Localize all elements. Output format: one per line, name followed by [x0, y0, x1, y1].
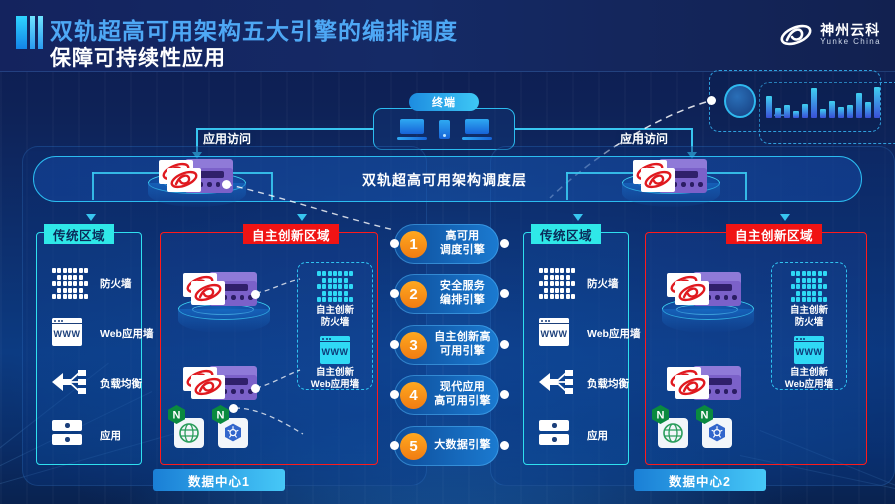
logo-name-en: Yunke China: [820, 38, 881, 46]
load-balancer-wrap: [52, 368, 86, 396]
engine-connector-dot: [500, 340, 509, 349]
innovation-subpanel-dc1: 自主创新防火墙 WWW 自主创新Web应用墙: [297, 262, 373, 390]
service-row-Web应用墙: WWWWeb应用墙: [52, 318, 153, 348]
service-label: 应用: [100, 428, 121, 443]
bar: [793, 111, 799, 118]
zone-label-innovation-dc2: 自主创新区域: [726, 224, 822, 244]
datacenter-1-tag: 数据中心1: [153, 469, 285, 491]
application-server-icon: [52, 420, 82, 446]
firewall-icon: [791, 271, 827, 302]
kubernetes-icon: [222, 422, 244, 444]
engine-5[interactable]: 5大数据引擎: [394, 426, 499, 466]
k8s-connector-dot: [229, 404, 238, 413]
service-label: 防火墙: [100, 276, 132, 291]
laptop-icon: [462, 119, 492, 140]
service-row-应用: 应用: [539, 420, 608, 450]
engine-number: 5: [400, 433, 427, 460]
band-bracket-left-v1: [92, 172, 94, 200]
application-server-icon-wrap: [539, 420, 575, 450]
engine-4[interactable]: 4现代应用高可用引擎: [394, 375, 499, 415]
engine-connector-dot: [500, 390, 509, 399]
bar: [856, 93, 862, 118]
access-label-right: 应用访问: [620, 130, 668, 147]
dashboard-connector-dot: [707, 96, 716, 105]
header-accent-bars: [16, 16, 43, 49]
bar: [811, 88, 817, 118]
zone-arrow-traditional-dc1: [86, 214, 96, 221]
nginx-icon: N: [652, 405, 669, 424]
page-title-main: 双轨超高可用架构: [50, 18, 242, 44]
phone-icon: [439, 120, 450, 139]
bar-chart-icon: [766, 84, 880, 118]
engine-label: 大数据引擎: [427, 439, 498, 453]
band-bracket-right-v2: [745, 172, 747, 200]
web-application-firewall-icon: WWW: [539, 318, 569, 346]
engine-connector-dot: [500, 289, 509, 298]
bar: [802, 104, 808, 118]
bar: [766, 96, 772, 118]
zone-label-traditional-dc1: 传统区域: [44, 224, 114, 244]
svg-text:N: N: [657, 410, 665, 422]
engine-connector-dot: [500, 239, 509, 248]
brand-logo: 神州云科 Yunke China: [779, 22, 881, 48]
service-row-负载均衡: 负载均衡: [52, 368, 142, 398]
innovation-waf-icon-wrap: WWW: [320, 336, 350, 364]
donut-chart-icon: [724, 84, 756, 118]
bar: [775, 108, 781, 118]
svg-text:N: N: [173, 410, 181, 422]
web-application-firewall-icon-wrap: WWW: [52, 318, 88, 348]
service-label: 负载均衡: [587, 376, 629, 391]
engine-label: 安全服务编排引擎: [427, 280, 498, 308]
engine-label: 高可用调度引擎: [427, 230, 498, 258]
web-application-firewall-icon: WWW: [52, 318, 82, 346]
service-label: 应用: [587, 428, 608, 443]
web-application-firewall-icon: WWW: [320, 336, 350, 364]
engine-number: 4: [400, 382, 427, 409]
zone-arrow-traditional-dc2: [573, 214, 583, 221]
engine-connector-dot: [390, 390, 399, 399]
svg-text:N: N: [701, 410, 709, 422]
engine-number: 3: [400, 332, 427, 359]
bar: [847, 105, 853, 118]
server-rack-inno2-dc2: [667, 366, 741, 400]
access-label-left: 应用访问: [203, 130, 251, 147]
bar: [838, 107, 844, 118]
zone-arrow-innovation-dc2: [780, 214, 790, 221]
bar: [865, 102, 871, 118]
innovation-waf-label: 自主创新Web应用墙: [785, 367, 833, 391]
laptop-icon: [397, 119, 427, 140]
engine-3[interactable]: 3自主创新高可用引擎: [394, 325, 499, 365]
vendor-swirl-icon: [169, 169, 199, 190]
firewall-icon: [539, 268, 575, 299]
datacenter-2-tag: 数据中心2: [634, 469, 766, 491]
firewall-icon-wrap: [539, 268, 575, 298]
service-row-Web应用墙: WWWWeb应用墙: [539, 318, 640, 348]
zone-arrow-innovation-dc1: [297, 214, 307, 221]
page-subtitle: 保障可持续性应用: [50, 42, 226, 72]
innovation-waf-label: 自主创新Web应用墙: [311, 367, 359, 391]
load-balancer-icon-wrap: [539, 368, 575, 398]
innovation-firewall-icon: [317, 271, 353, 302]
kubernetes-icon: [706, 422, 728, 444]
engine-connector-dot: [390, 340, 399, 349]
server-rack-band-right: [633, 159, 707, 193]
nginx-icon: N: [696, 405, 713, 424]
engine-label: 现代应用高可用引擎: [427, 381, 498, 409]
vendor-swirl-icon: [643, 169, 673, 190]
innovation-firewall-label: 自主创新防火墙: [790, 305, 828, 329]
orchestration-band-title: 双轨超高可用架构调度层: [362, 170, 527, 190]
application-server-icon-wrap: [52, 420, 88, 450]
engine-connector-dot: [390, 289, 399, 298]
firewall-icon: [52, 268, 88, 299]
terminal-group: [373, 108, 515, 150]
server-rack-inno1-dc2: [667, 272, 741, 306]
server-rack-band-left: [159, 159, 233, 193]
service-label: 负载均衡: [100, 376, 142, 391]
rack-connector-dot: [251, 290, 260, 299]
server-rack-inno1-dc1: [183, 272, 257, 306]
engine-connector-dot: [390, 239, 399, 248]
application-server-icon: [539, 420, 569, 446]
service-row-负载均衡: 负载均衡: [539, 368, 629, 398]
engine-label: 自主创新高可用引擎: [427, 331, 498, 359]
logo-swirl-icon: [779, 22, 813, 48]
bar: [784, 105, 790, 118]
firewall-icon: [317, 271, 353, 302]
innovation-firewall-label: 自主创新防火墙: [316, 305, 354, 329]
service-row-防火墙: 防火墙: [52, 268, 132, 298]
bar: [829, 101, 835, 118]
service-label: Web应用墙: [587, 326, 640, 341]
innovation-waf-icon-wrap: WWW: [794, 336, 824, 364]
innovation-firewall-icon: [791, 271, 827, 302]
engine-number: 2: [400, 281, 427, 308]
svg-text:N: N: [217, 410, 225, 422]
page-title: 双轨超高可用架构–五大引擎的编排调度: [50, 12, 458, 46]
bar: [874, 87, 880, 118]
bar: [820, 109, 826, 118]
logo-text: 神州云科 Yunke China: [820, 23, 881, 46]
server-rack-inno2-dc1: [183, 366, 257, 400]
band-bracket-left-v2: [271, 172, 273, 200]
engine-connector-dot: [500, 441, 509, 450]
zone-label-innovation-dc1: 自主创新区域: [243, 224, 339, 244]
nginx-icon: N: [212, 405, 229, 424]
zone-label-traditional-dc2: 传统区域: [531, 224, 601, 244]
band-bracket-right-v1: [566, 172, 568, 200]
nginx-icon: N: [168, 405, 185, 424]
band-left-connector-dot: [222, 180, 231, 189]
firewall-icon-wrap: [52, 268, 88, 298]
terminal-tag: 终端: [409, 93, 479, 111]
page-title-sub: 五大引擎的编排调度: [242, 18, 458, 44]
web-application-firewall-icon-wrap: WWW: [539, 318, 575, 348]
slide-canvas: 双轨超高可用架构–五大引擎的编排调度 保障可持续性应用 神州云科 Yunke C…: [0, 0, 895, 504]
load-balancer-wrap: [539, 368, 573, 396]
rack-connector-dot: [251, 384, 260, 393]
load-balancer-icon: [539, 368, 573, 396]
engine-number: 1: [400, 231, 427, 258]
logo-name-cn: 神州云科: [820, 23, 881, 38]
web-application-firewall-icon: WWW: [794, 336, 824, 364]
service-row-应用: 应用: [52, 420, 121, 450]
innovation-subpanel-dc2: 自主创新防火墙 WWW 自主创新Web应用墙: [771, 262, 847, 390]
engine-2[interactable]: 2安全服务编排引擎: [394, 274, 499, 314]
engine-connector-dot: [390, 441, 399, 450]
service-mesh-icon: [662, 422, 684, 444]
service-label: Web应用墙: [100, 326, 153, 341]
load-balancer-icon-wrap: [52, 368, 88, 398]
service-mesh-icon: [178, 422, 200, 444]
engine-1[interactable]: 1高可用调度引擎: [394, 224, 499, 264]
service-label: 防火墙: [587, 276, 619, 291]
service-row-防火墙: 防火墙: [539, 268, 619, 298]
load-balancer-icon: [52, 368, 86, 396]
monitoring-dashboard: [709, 70, 881, 132]
page-header: 双轨超高可用架构–五大引擎的编排调度 保障可持续性应用 神州云科 Yunke C…: [0, 0, 895, 72]
